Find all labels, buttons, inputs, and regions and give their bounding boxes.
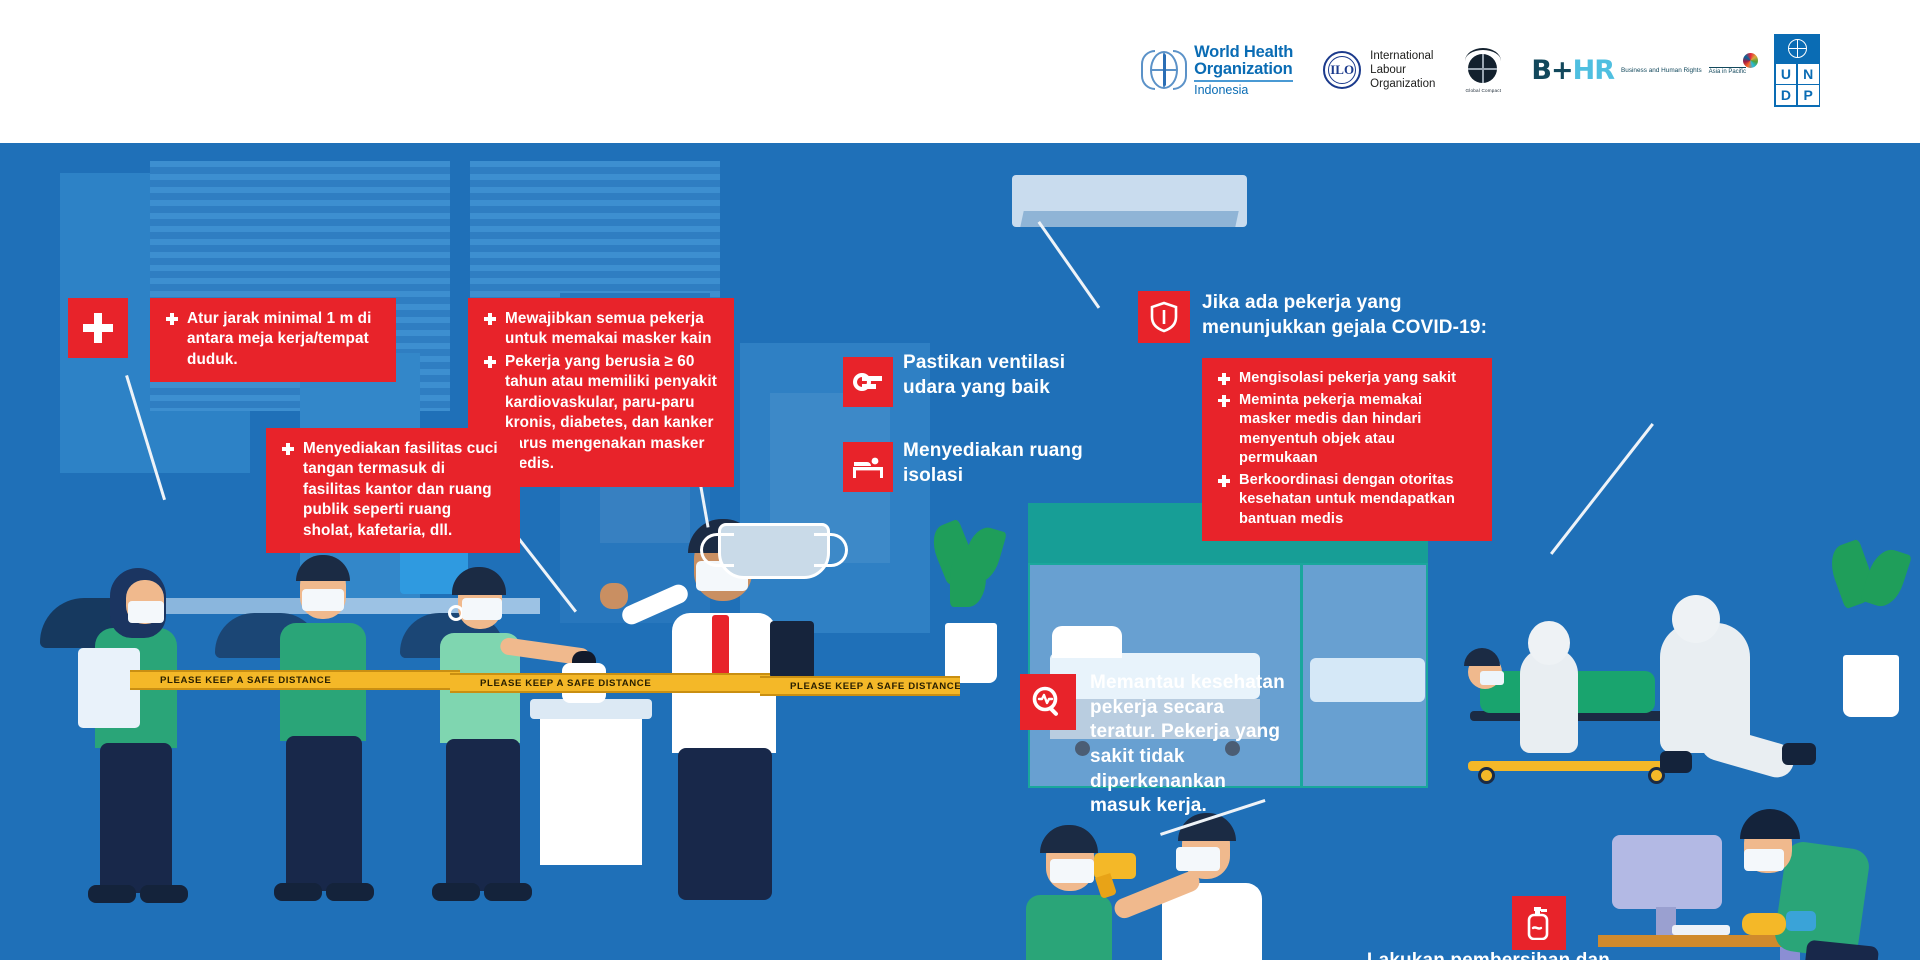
- plus-bullet-icon: [166, 313, 178, 325]
- face-mask: [1176, 847, 1220, 871]
- ilo-emblem-icon: ILO: [1321, 49, 1363, 91]
- ilo-monogram: ILO: [1321, 49, 1363, 91]
- floor-tape-right: PLEASE KEEP A SAFE DISTANCE: [760, 676, 960, 696]
- global-compact-caption: Global Compact: [1463, 88, 1503, 93]
- callout-item: Atur jarak minimal 1 m di antara meja ke…: [166, 309, 380, 370]
- patient-hair: [1464, 648, 1500, 666]
- shoe: [432, 883, 480, 901]
- ilo-line2: Labour: [1370, 63, 1435, 77]
- person-legs: [100, 743, 172, 893]
- ilo-line1: International: [1370, 49, 1435, 63]
- plant-pot: [1843, 655, 1899, 717]
- ppe-worker-hood: [1528, 621, 1570, 665]
- face-mask: [1744, 849, 1784, 871]
- bed-wheel: [1075, 741, 1090, 756]
- air-flow-icon: [843, 357, 893, 407]
- ilo-line3: Organization: [1370, 77, 1435, 91]
- face-mask: [462, 598, 502, 620]
- who-line1: World Health: [1194, 44, 1293, 61]
- health-search-icon: [1020, 674, 1076, 730]
- shoe: [484, 883, 532, 901]
- plus-bullet-icon: [282, 443, 294, 455]
- surgical-mask-graphic: [700, 523, 848, 585]
- hair: [1040, 825, 1098, 853]
- person-checked-batik: [1026, 895, 1112, 960]
- plus-bullet-icon: [484, 313, 496, 325]
- shoe: [88, 885, 136, 903]
- plus-bullet-icon: [484, 356, 496, 368]
- medical-cross-icon: [68, 298, 128, 358]
- tape-text: PLEASE KEEP A SAFE DISTANCE: [130, 675, 361, 686]
- person-legs: [678, 748, 772, 900]
- hospital-bed-pillow: [1052, 626, 1122, 658]
- callout-item: Mewajibkan semua pekerja untuk memakai m…: [484, 309, 718, 350]
- undp-u: U: [1776, 64, 1797, 84]
- sdg-wheel-icon: [1743, 53, 1758, 68]
- bhr-hr: HR: [1573, 55, 1614, 86]
- face-mask: [302, 589, 344, 611]
- callout-symptoms-heading: Jika ada pekerja yang menunjukkan gejala…: [1202, 291, 1512, 340]
- shoe: [140, 885, 188, 903]
- callout-item: Meminta pekerja memakai masker medis dan…: [1218, 391, 1476, 469]
- undp-p: P: [1798, 85, 1819, 105]
- plus-bullet-icon: [1218, 373, 1230, 385]
- hospital-bed: [1310, 658, 1425, 702]
- callout-distance: Atur jarak minimal 1 m di antara meja ke…: [150, 298, 396, 382]
- patient-bed-icon: [843, 442, 893, 492]
- cleaning-cloth: [1786, 911, 1816, 931]
- floor-tape-mid: PLEASE KEEP A SAFE DISTANCE: [450, 673, 770, 693]
- clipboard: [770, 621, 814, 679]
- shoe: [326, 883, 374, 901]
- stretcher-wheel: [1478, 767, 1495, 784]
- tape-text: PLEASE KEEP A SAFE DISTANCE: [450, 678, 681, 689]
- floor-tape-left: PLEASE KEEP A SAFE DISTANCE: [130, 670, 460, 690]
- hand: [600, 583, 628, 609]
- tape-text: PLEASE KEEP A SAFE DISTANCE: [760, 681, 960, 692]
- bhr-sub2: Asia in Pacific: [1709, 67, 1746, 75]
- person-legs: [446, 739, 520, 891]
- patient-mask-icon: [1480, 671, 1504, 685]
- undp-d: D: [1776, 85, 1797, 105]
- plant-pot: [945, 623, 997, 683]
- shield-icon: [1138, 291, 1190, 343]
- callout-item: Mengisolasi pekerja yang sakit: [1218, 369, 1476, 389]
- bhr-plus: +: [1551, 55, 1573, 86]
- shoe: [274, 883, 322, 901]
- glass-divider: [1300, 563, 1303, 788]
- callout-monitoring-text: Memantau kesehatan pekerja secara teratu…: [1090, 671, 1290, 819]
- ppe-worker-hood: [1672, 595, 1720, 643]
- who-emblem-icon: [1141, 47, 1187, 93]
- un-global-compact-logo: Global Compact: [1463, 47, 1503, 93]
- logo-row: World Health Organization Indonesia ILO …: [1141, 34, 1820, 107]
- potted-plant: [1830, 543, 1910, 663]
- illustration-scene: PLEASE KEEP A SAFE DISTANCE PLEASE KEEP …: [0, 143, 1920, 960]
- plus-bullet-icon: [1218, 475, 1230, 487]
- computer-monitor: [1612, 835, 1722, 909]
- office-desk: [330, 598, 540, 614]
- ppe-worker-boot: [1660, 751, 1692, 773]
- undp-n: N: [1798, 64, 1819, 84]
- bhr-sub1: Business and Human Rights: [1621, 67, 1702, 74]
- ppe-worker-boot: [1782, 743, 1816, 765]
- who-indonesia-logo: World Health Organization Indonesia: [1141, 44, 1293, 96]
- potted-plant: [930, 523, 1008, 633]
- air-conditioner-vent: [1020, 211, 1238, 227]
- callout-ventilation-text: Pastikan ventilasi udara yang baik: [903, 351, 1073, 400]
- sanitizer-stand: [540, 715, 642, 865]
- ilo-logo: ILO International Labour Organization: [1321, 49, 1435, 91]
- face-mask: [1050, 859, 1094, 883]
- callout-item: Berkoordinasi dengan otoritas kesehatan …: [1218, 471, 1476, 530]
- gloved-hand: [1742, 913, 1786, 935]
- undp-logo: U N D P: [1774, 34, 1820, 107]
- infographic-page: World Health Organization Indonesia ILO …: [0, 0, 1920, 960]
- callout-disinfection-text: Lakukan pembersihan dan disinfeksi secar…: [1330, 949, 1610, 960]
- global-compact-emblem-icon: Global Compact: [1463, 47, 1503, 93]
- b-and-hr-logo: B+HR Business and Human Rights Asia in P…: [1531, 55, 1746, 86]
- hair: [1740, 809, 1800, 839]
- face-mask: [128, 601, 164, 623]
- callout-symptoms-actions: Mengisolasi pekerja yang sakit Meminta p…: [1202, 358, 1492, 541]
- who-country: Indonesia: [1194, 84, 1293, 97]
- sanitizer-bottle-icon: [1512, 896, 1566, 950]
- un-globe-icon: [1788, 39, 1807, 58]
- person-legs: [286, 736, 362, 891]
- plus-bullet-icon: [1218, 395, 1230, 407]
- who-line2: Organization: [1194, 61, 1293, 78]
- header-bar: World Health Organization Indonesia ILO …: [0, 0, 1920, 143]
- bhr-b: B: [1531, 55, 1551, 86]
- callout-isolation-text: Menyediakan ruang isolasi: [903, 439, 1083, 488]
- callout-handwash: Menyediakan fasilitas cuci tangan termas…: [266, 428, 520, 553]
- callout-item: Menyediakan fasilitas cuci tangan termas…: [282, 439, 504, 541]
- stretcher-base: [1468, 761, 1678, 771]
- keyboard: [1672, 925, 1730, 935]
